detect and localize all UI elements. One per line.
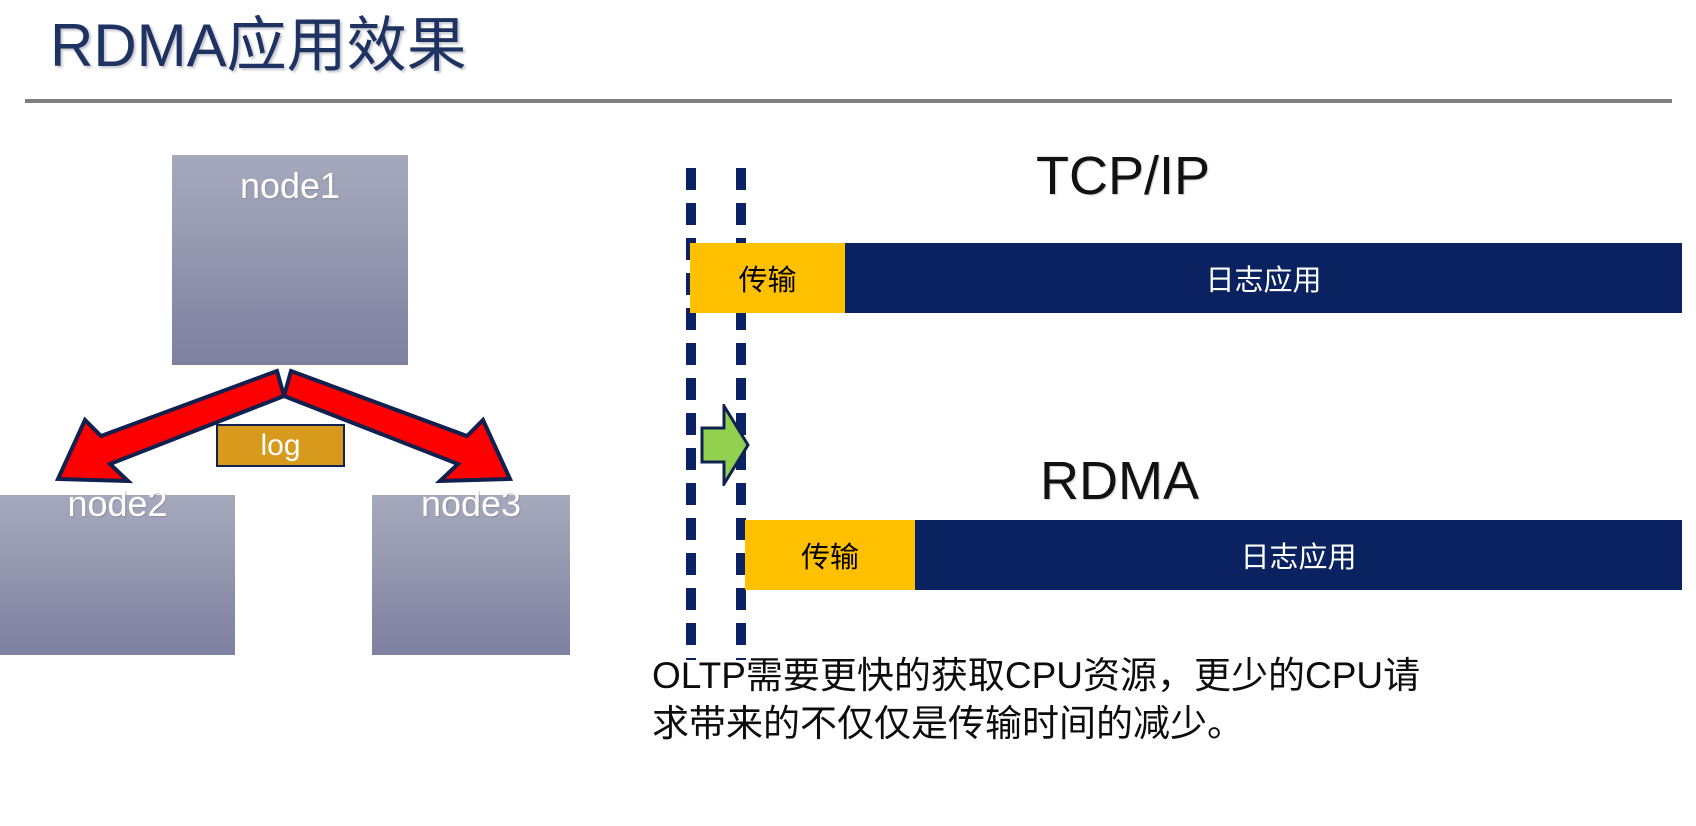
segment-log-application-tcpip: 日志应用 <box>845 243 1682 313</box>
timeline-bar-tcpip: 传输 日志应用 <box>690 243 1682 313</box>
protocol-label-rdma: RDMA <box>1040 450 1199 512</box>
segment-transfer-rdma: 传输 <box>745 520 915 590</box>
title-divider <box>25 99 1672 103</box>
caption-line-2: 求带来的不仅仅是传输时间的减少。 <box>652 700 1632 748</box>
segment-transfer-tcpip: 传输 <box>690 243 845 313</box>
diagram-node-node1: node1 <box>172 155 408 365</box>
caption-text: OLTP需要更快的获取CPU资源，更少的CPU请 求带来的不仅仅是传输时间的减少… <box>652 652 1632 748</box>
node1-label: node1 <box>172 165 408 207</box>
log-box: log <box>216 424 345 467</box>
caption-line-1: OLTP需要更快的获取CPU资源，更少的CPU请 <box>652 652 1632 700</box>
log-box-label: log <box>218 426 343 466</box>
green-right-arrow-icon <box>694 404 750 486</box>
slide-canvas: RDMA应用效果 node1 node2 node3 log TCP/IP RD… <box>0 0 1696 826</box>
protocol-label-tcpip: TCP/IP <box>1036 145 1210 207</box>
timeline-bar-rdma: 传输 日志应用 <box>745 520 1682 590</box>
segment-log-application-rdma: 日志应用 <box>915 520 1682 590</box>
page-title: RDMA应用效果 <box>50 5 467 87</box>
